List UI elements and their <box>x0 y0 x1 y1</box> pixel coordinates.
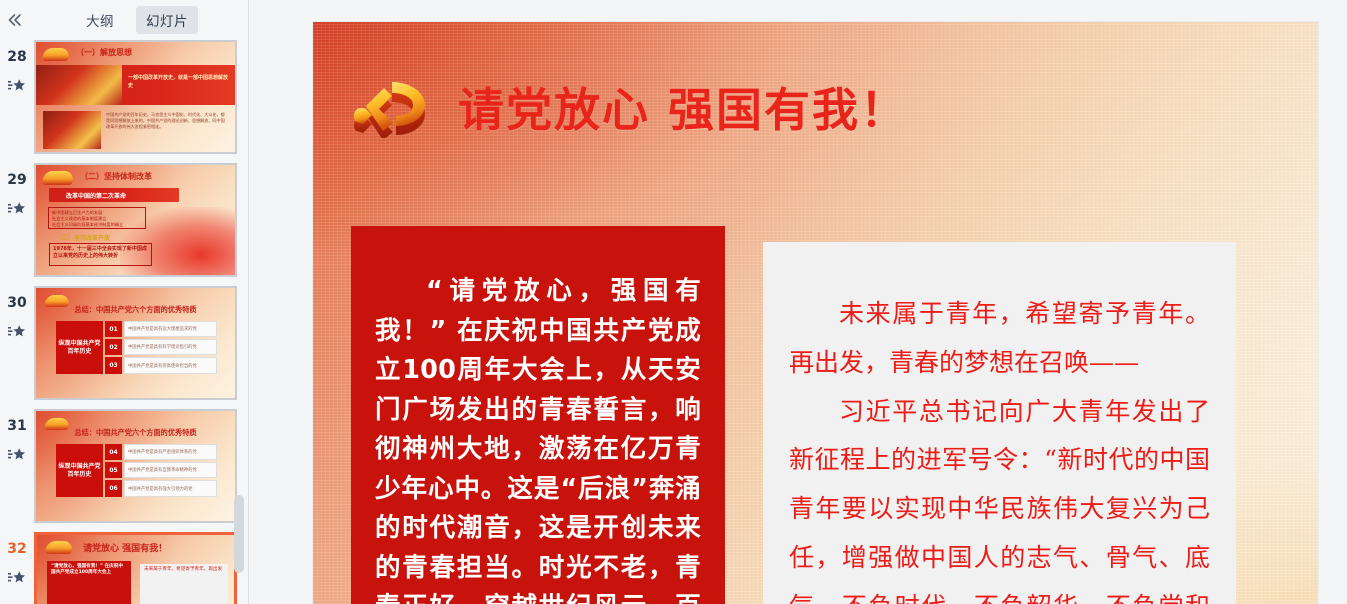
thumbnail-gutter: 31 <box>0 409 34 462</box>
slide-navigator-panel: 大纲 幻灯片 28 <box>0 0 249 604</box>
thumbnail-subtitle: （三）坚持改革开放 <box>56 233 110 242</box>
thumbnail-photo <box>36 65 122 105</box>
party-emblem-icon <box>42 48 69 61</box>
thumbnail-gutter: 29 <box>0 163 34 216</box>
slide-thumbnail-31[interactable]: 总结：中国共产党六个方面的优秀特质 纵观中国共产党百年历史 04 中国共产党是具… <box>34 409 237 523</box>
thumbnail-row-number: 05 <box>105 462 122 478</box>
thumbnail-row-number: 04 <box>105 444 122 460</box>
white-box-paragraph-2: 习近平总书记向广大青年发出了新征程上的进军号令：“新时代的中国青年要以实现中华民… <box>789 388 1210 604</box>
panel-header: 大纲 幻灯片 <box>0 0 248 40</box>
tab-outline[interactable]: 大纲 <box>76 6 124 34</box>
red-content-box[interactable]: “请党放心，强国有我！” 在庆祝中国共产党成立100周年大会上，从天安门广场发出… <box>351 226 725 604</box>
thumbnail-band-text: 改革中国的第二次革命 <box>66 191 126 200</box>
slide-thumbnail-28[interactable]: （一）解放思想 一部中国改革开放史，就是一部中国思想解放史 中国共产党的百年历史… <box>34 40 237 154</box>
white-box-paragraph-1: 未来属于青年，希望寄予青年。再出发，青春的梦想在召唤—— <box>789 290 1210 388</box>
animation-star-icon[interactable] <box>0 78 34 93</box>
party-emblem-icon <box>45 541 72 554</box>
thumbnail-title: 请党放心 强国有我！ <box>83 541 167 554</box>
thumbnail-title: 总结：中国共产党六个方面的优秀特质 <box>36 428 235 438</box>
slide-title[interactable]: 请党放心 强国有我！ <box>458 74 908 140</box>
slide-number: 29 <box>0 173 34 187</box>
white-box-paragraphs: 未来属于青年，希望寄予青年。再出发，青春的梦想在召唤—— 习近平总书记向广大青年… <box>789 290 1210 604</box>
current-slide-canvas[interactable]: 请党放心 强国有我！ “请党放心，强国有我！” 在庆祝中国共产党成立100周年大… <box>313 22 1318 604</box>
presentation-editor: 大纲 幻灯片 28 <box>0 0 1347 604</box>
slide-header: 请党放心 强国有我！ <box>313 64 1318 150</box>
thumbnail-row-text: 中国共产党是具有自我革命精神的党 <box>124 462 217 478</box>
slide-editing-stage: 请党放心 强国有我！ “请党放心，强国有我！” 在庆祝中国共产党成立100周年大… <box>249 0 1347 604</box>
thumbnail-white-box: 未来属于青年，希望寄予青年。再出发 <box>140 564 228 604</box>
thumbnail-row-number: 02 <box>105 339 122 355</box>
slide-thumbnail-29[interactable]: （二）坚持体制改革 改革中国的第二次革命 新中国建立后生产力的发展 社会主义改造… <box>34 163 237 277</box>
vertical-scrollbar-thumb[interactable] <box>234 495 244 573</box>
slide-number: 32 <box>0 542 34 556</box>
thumbnail-side-label: 纵观中国共产党百年历史 <box>56 321 103 374</box>
animation-star-icon[interactable] <box>0 570 34 585</box>
thumbnail-gutter: 32 <box>0 532 34 585</box>
thumbnail-canvas: 请党放心 强国有我！ “请党放心，强国有我！” 在庆祝中国共产党成立100周年大… <box>37 535 234 604</box>
slide-thumbnail-item[interactable]: 31 总结：中国共产党六个方面的优秀特质 纵观中国共 <box>0 409 249 523</box>
thumbnail-canvas: 总结：中国共产党六个方面的优秀特质 纵观中国共产党百年历史 01 中国共产党是具… <box>36 288 235 398</box>
slide-thumbnail-32[interactable]: 请党放心 强国有我！ “请党放心，强国有我！” 在庆祝中国共产党成立100周年大… <box>34 532 237 604</box>
slide-thumbnail-item-selected[interactable]: 32 请党放心 强国有我！ “请党放心，强国有我！ <box>0 532 249 604</box>
thumbnail-row-text: 中国共产党是具有科学理论指引的党 <box>124 339 217 355</box>
thumbnail-row-number: 06 <box>105 480 122 497</box>
thumbnail-side-label: 纵观中国共产党百年历史 <box>56 444 103 497</box>
thumbnail-list-box: 新中国建立后生产力的发展 社会主义改造的基本制度建立 社会主义初级阶段基本经济制… <box>48 207 146 229</box>
thumbnail-row-text: 中国共产党是具有强大引领力的党 <box>124 480 217 497</box>
thumbnail-band-text: 一部中国改革开放史，就是一部中国思想解放史 <box>128 74 228 90</box>
animation-star-icon[interactable] <box>0 201 34 216</box>
thumbnail-canvas: （一）解放思想 一部中国改革开放史，就是一部中国思想解放史 中国共产党的百年历史… <box>36 42 235 152</box>
slide-thumbnail-item[interactable]: 29 （二）坚持体制改革 <box>0 163 249 277</box>
thumbnail-row-number: 03 <box>105 357 122 374</box>
thumbnail-red-box: “请党放心，强国有我！” 在庆祝中国共产党成立100周年大会上 <box>47 561 131 604</box>
tab-slides[interactable]: 幻灯片 <box>136 6 198 34</box>
thumbnail-title: （二）坚持体制改革 <box>80 171 152 182</box>
white-content-box[interactable]: 未来属于青年，希望寄予青年。再出发，青春的梦想在召唤—— 习近平总书记向广大青年… <box>763 242 1236 604</box>
slide-number: 30 <box>0 296 34 310</box>
party-emblem-icon <box>42 171 73 185</box>
slide-thumbnail-item[interactable]: 30 总结：中国共产党六个方面的优秀特质 纵观中国共 <box>0 286 249 400</box>
slide-number: 31 <box>0 419 34 433</box>
animation-star-icon[interactable] <box>0 324 34 339</box>
animation-star-icon[interactable] <box>0 447 34 462</box>
thumbnail-title: 总结：中国共产党六个方面的优秀特质 <box>36 305 235 315</box>
thumbnail-row-text: 中国共产党是具有崇高使命担当的党 <box>124 357 217 374</box>
thumbnail-canvas: （二）坚持体制改革 改革中国的第二次革命 新中国建立后生产力的发展 社会主义改造… <box>36 165 235 275</box>
slide-number: 28 <box>0 50 34 64</box>
slide-thumbnail-item[interactable]: 28 （一）解放思想 <box>0 40 249 154</box>
red-box-paragraph: “请党放心，强国有我！” 在庆祝中国共产党成立100周年大会上，从天安门广场发出… <box>375 272 701 604</box>
vertical-scrollbar-track[interactable] <box>233 40 245 604</box>
thumbnail-row-text: 中国共产党是具有严密组织体系的党 <box>124 444 217 460</box>
thumbnail-photo-2 <box>43 111 101 149</box>
thumbnail-gutter: 28 <box>0 40 34 93</box>
thumbnail-title: （一）解放思想 <box>76 47 132 58</box>
thumbnail-canvas: 总结：中国共产党六个方面的优秀特质 纵观中国共产党百年历史 04 中国共产党是具… <box>36 411 235 521</box>
chevrons-left-icon[interactable] <box>0 0 30 40</box>
thumbnail-gutter: 30 <box>0 286 34 339</box>
thumbnail-row-text: 中国共产党是具有远大理想追求的党 <box>124 321 217 337</box>
thumbnail-highlight-box: 1978年，十一届三中全会实现了新中国成立以来党的历史上的伟大转折 <box>49 243 152 266</box>
slide-thumbnail-30[interactable]: 总结：中国共产党六个方面的优秀特质 纵观中国共产党百年历史 01 中国共产党是具… <box>34 286 237 400</box>
slide-thumbnail-list[interactable]: 28 （一）解放思想 <box>0 40 249 604</box>
thumbnail-row-number: 01 <box>105 321 122 337</box>
party-emblem-icon <box>346 76 438 138</box>
thumbnail-body-text: 中国共产党的百年历史，马克思主义中国化、时代化、大众化，都是同思想解放上来的。中… <box>106 112 228 150</box>
